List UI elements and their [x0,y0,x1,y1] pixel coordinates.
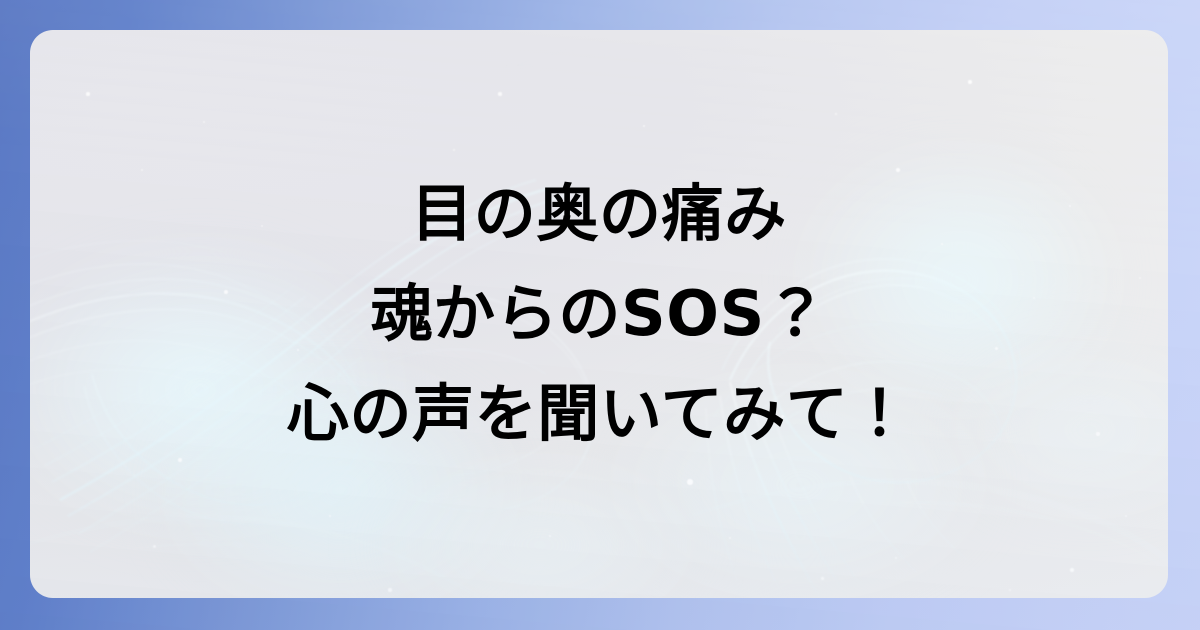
content-card: 目の奥の痛み 魂からのSOS？ 心の声を聞いてみて！ [30,30,1168,598]
eyecatch-canvas: 目の奥の痛み 魂からのSOS？ 心の声を聞いてみて！ [0,0,1200,630]
headline-line-3: 心の声を聞いてみて！ [287,364,911,464]
headline-line-1: 目の奥の痛み [411,164,787,264]
headline-line-2: 魂からのSOS？ [371,264,828,364]
headline-block: 目の奥の痛み 魂からのSOS？ 心の声を聞いてみて！ [30,30,1168,598]
